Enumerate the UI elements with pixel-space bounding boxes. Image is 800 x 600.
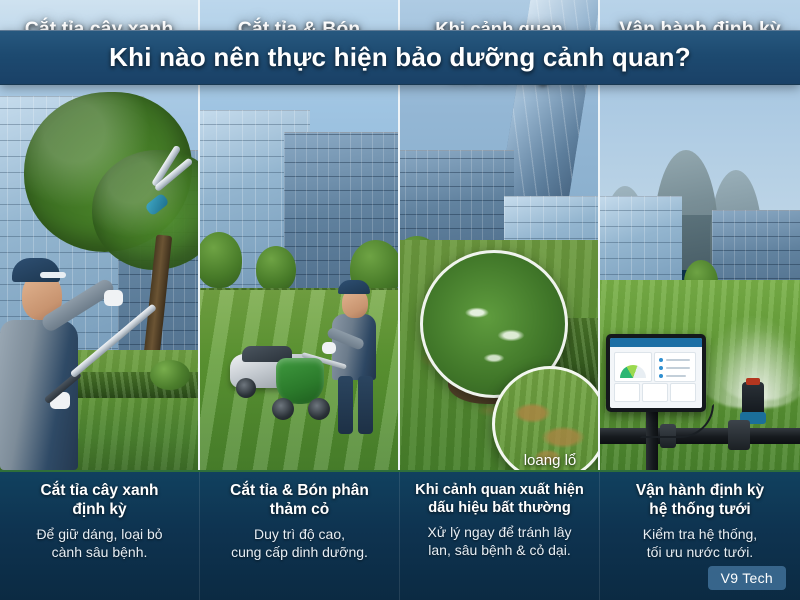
watermark-badge: V9 Tech xyxy=(708,566,786,590)
page-title: Khi nào nên thực hiện bảo dưỡng cảnh qua… xyxy=(109,42,691,73)
caption-title-line: Vận hành định kỳ xyxy=(608,482,792,501)
caption-subtitle: Để giữ dáng, loại bỏ cành sâu bệnh. xyxy=(8,525,191,561)
caption-cat-tia-bon-phan: Cắt tỉa & Bón phân thảm cỏ Duy trì độ ca… xyxy=(200,472,400,600)
caption-title-line: dấu hiệu bất thường xyxy=(408,500,591,518)
caption-subtitle-line: Duy trì độ cao, xyxy=(208,525,391,543)
title-banner: Khi nào nên thực hiện bảo dưỡng cảnh qua… xyxy=(0,30,800,85)
caption-cat-tia-cay-xanh: Cắt tỉa cây xanh định kỳ Để giữ dáng, lo… xyxy=(0,472,200,600)
caption-subtitle-line: Để giữ dáng, loại bỏ xyxy=(8,525,191,543)
controller-titlebar xyxy=(610,338,702,347)
caption-strip: Cắt tỉa cây xanh định kỳ Để giữ dáng, lo… xyxy=(0,470,800,600)
caption-title-line: thảm cỏ xyxy=(208,501,391,520)
caption-subtitle-line: tối ưu nước tưới. xyxy=(608,543,792,561)
caption-subtitle: Kiểm tra hệ thống, tối ưu nước tưới. xyxy=(608,525,792,561)
caption-subtitle-line: cung cấp dinh dưỡng. xyxy=(208,543,391,561)
caption-title-line: Cắt tỉa cây xanh xyxy=(8,482,191,501)
caption-subtitle-line: Xử lý ngay để tránh lây xyxy=(408,523,591,541)
caption-title: Vận hành định kỳ hệ thống tưới xyxy=(608,482,792,520)
caption-title: Cắt tỉa cây xanh định kỳ xyxy=(8,482,191,520)
caption-subtitle-line: lan, sâu bệnh & cỏ dại. xyxy=(408,541,591,559)
infographic-canvas: Cắt tỉa cây xanh định kỳ xyxy=(0,0,800,600)
caption-title-line: Cắt tỉa & Bón phân xyxy=(208,482,391,501)
caption-title-line: định kỳ xyxy=(8,501,191,520)
caption-dau-hieu-bat-thuong: Khi cảnh quan xuất hiện dấu hiệu bất thư… xyxy=(400,472,600,600)
caption-title: Cắt tỉa & Bón phân thảm cỏ xyxy=(208,482,391,520)
caption-title: Khi cảnh quan xuất hiện dấu hiệu bất thư… xyxy=(408,482,591,518)
caption-subtitle-line: Kiểm tra hệ thống, xyxy=(608,525,792,543)
caption-title-line: Khi cảnh quan xuất hiện xyxy=(408,482,591,500)
caption-subtitle: Duy trì độ cao, cung cấp dinh dưỡng. xyxy=(208,525,391,561)
caption-subtitle-line: cành sâu bệnh. xyxy=(8,543,191,561)
magnifier-label: loang lổ xyxy=(495,452,598,469)
controller-screen xyxy=(610,338,702,408)
irrigation-controller-tablet[interactable] xyxy=(606,334,706,412)
caption-subtitle: Xử lý ngay để tránh lây lan, sâu bệnh & … xyxy=(408,523,591,559)
caption-title-line: hệ thống tưới xyxy=(608,501,792,520)
